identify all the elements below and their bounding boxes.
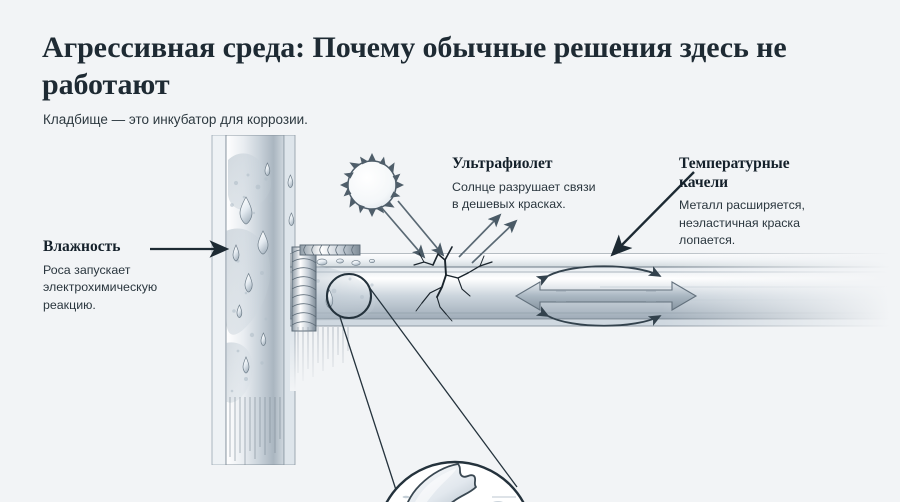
callout-uv-body: Солнце разрушает связи в дешевых красках… (452, 179, 657, 214)
steel-post (212, 135, 295, 465)
callout-humidity-body: Роса запускает электрохимическую реакцию… (43, 262, 208, 315)
sun-icon (340, 153, 404, 217)
callout-uv: Ультрафиолет Солнце разрушает связи в де… (452, 155, 657, 214)
page-subtitle: Кладбище — это инкубатор для коррозии. (43, 112, 308, 127)
callout-thermal-title: Температурные качели (679, 155, 874, 192)
magnifier-circle (370, 462, 540, 502)
callout-thermal: Температурные качели Металл расширяется,… (679, 155, 874, 250)
page-title: Агрессивная среда: Почему обычные решени… (42, 30, 802, 103)
uv-ray-arrows (381, 201, 443, 257)
callout-thermal-body: Металл расширяется, неэластичная краска … (679, 197, 874, 250)
callout-humidity-title: Влажность (43, 238, 208, 257)
infographic-page: Агрессивная среда: Почему обычные решени… (0, 0, 900, 502)
callout-humidity: Влажность Роса запускает электрохимическ… (43, 238, 208, 314)
callout-uv-title: Ультрафиолет (452, 155, 657, 174)
